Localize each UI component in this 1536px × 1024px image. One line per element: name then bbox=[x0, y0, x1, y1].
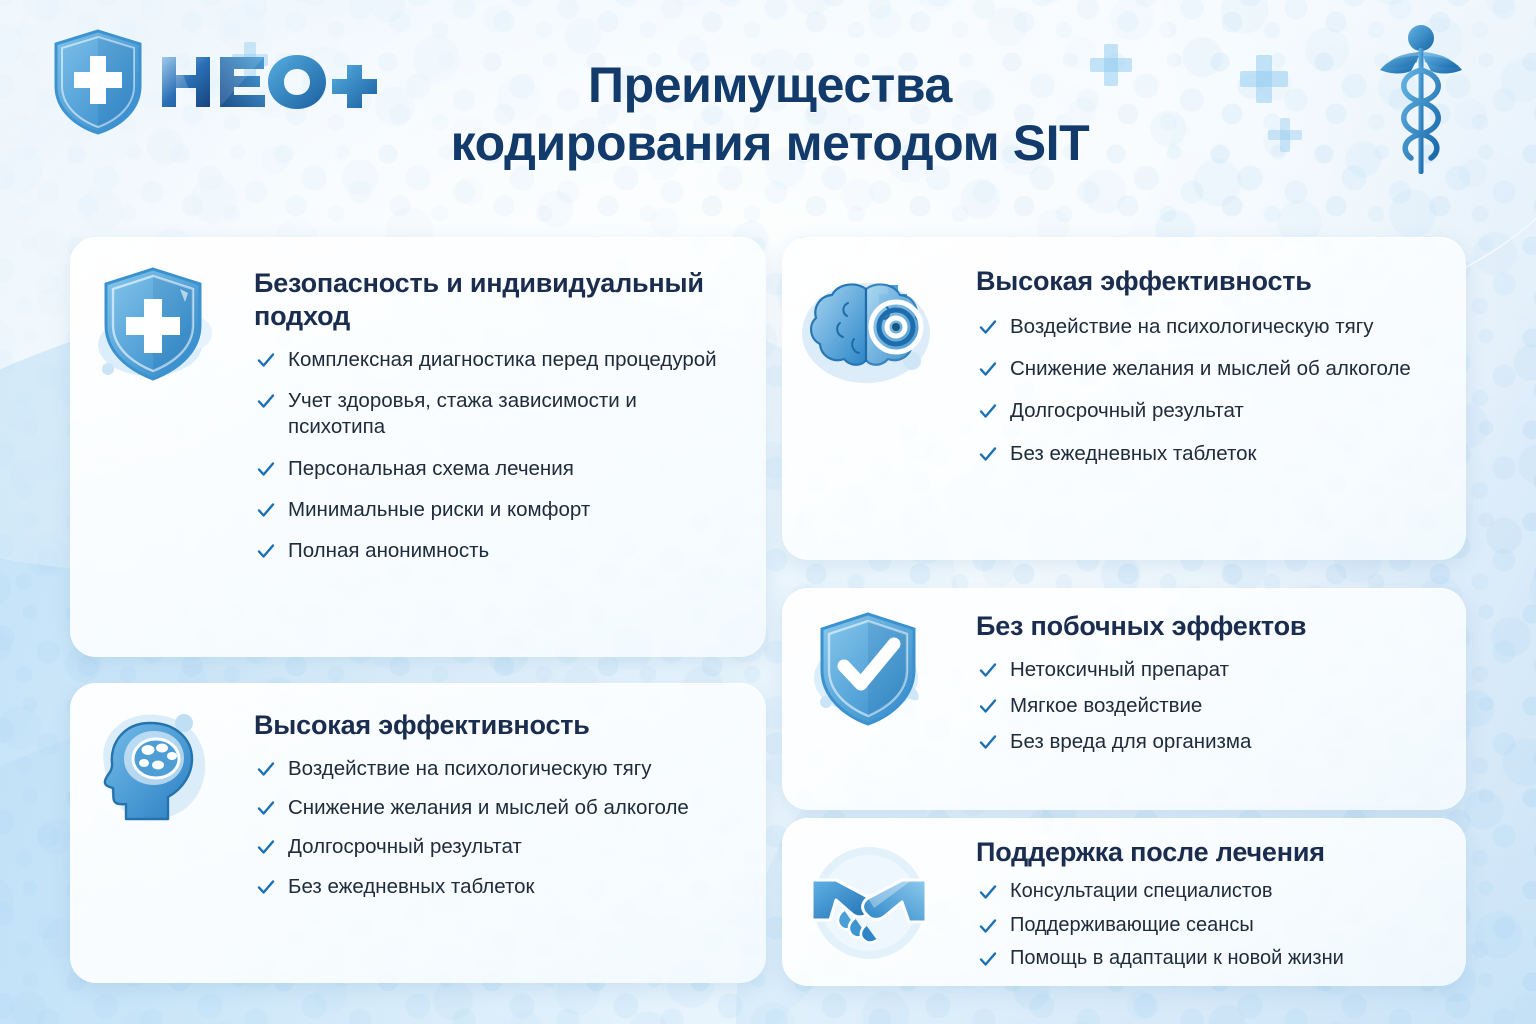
check-icon bbox=[978, 401, 998, 421]
list-item: Полная анонимность bbox=[254, 538, 736, 564]
list-item-label: Без ежедневных таблеток bbox=[288, 875, 535, 898]
list-item: Без ежедневных таблеток bbox=[254, 874, 736, 900]
shield-cross-icon bbox=[88, 259, 218, 389]
list-item: Без вреда для организма bbox=[976, 729, 1436, 755]
list-item: Без ежедневных таблеток bbox=[976, 441, 1436, 467]
list-item: Снижение желания и мыслей об алкоголе bbox=[254, 795, 736, 821]
benefit-list: Нетоксичный препарат Мягкое воздействие … bbox=[976, 657, 1436, 756]
list-item-label: Воздействие на психологическую тягу bbox=[1010, 315, 1373, 338]
list-item-label: Воздействие на психологическую тягу bbox=[288, 757, 651, 780]
shield-check-icon bbox=[804, 606, 934, 736]
poster-header: Преимущества кодирования методом SIT bbox=[0, 0, 1536, 210]
card-title: Без побочных эффектов bbox=[976, 610, 1436, 643]
list-item: Помощь в адаптации к новой жизни bbox=[976, 946, 1436, 972]
check-icon bbox=[978, 444, 998, 464]
handshake-icon bbox=[806, 840, 932, 966]
list-item: Долгосрочный результат bbox=[254, 834, 736, 860]
list-item-label: Минимальные риски и комфорт bbox=[288, 498, 590, 521]
card-high-efficiency-left: Высокая эффективность Воздействие на пси… bbox=[70, 683, 766, 983]
list-item: Комплексная диагностика перед процедурой bbox=[254, 347, 736, 373]
list-item: Мягкое воздействие bbox=[976, 693, 1436, 719]
check-icon bbox=[978, 882, 998, 902]
card-safety: Безопасность и индивидуальный подход Ком… bbox=[70, 237, 766, 657]
card-high-efficiency-right: Высокая эффективность Воздействие на пси… bbox=[782, 237, 1466, 560]
card-title: Безопасность и индивидуальный подход bbox=[254, 267, 736, 333]
caduceus-icon bbox=[1378, 22, 1464, 178]
check-icon bbox=[256, 500, 276, 520]
card-no-side-effects: Без побочных эффектов Нетоксичный препар… bbox=[782, 588, 1466, 810]
card-title: Высокая эффективность bbox=[976, 265, 1436, 298]
card-title: Высокая эффективность bbox=[254, 709, 736, 742]
list-item-label: Учет здоровья, стажа зависимости и психо… bbox=[288, 389, 637, 438]
list-item: Долгосрочный результат bbox=[976, 398, 1436, 424]
check-icon bbox=[256, 541, 276, 561]
list-item-label: Без ежедневных таблеток bbox=[1010, 442, 1257, 465]
list-item-label: Консультации специалистов bbox=[1010, 880, 1273, 902]
list-item-label: Комплексная диагностика перед процедурой bbox=[288, 348, 717, 371]
list-item: Воздействие на психологическую тягу bbox=[254, 756, 736, 782]
list-item-label: Без вреда для организма bbox=[1010, 730, 1251, 753]
benefit-list: Воздействие на психологическую тягу Сниж… bbox=[976, 314, 1436, 467]
check-icon bbox=[978, 317, 998, 337]
title-line-2: кодирования методом SIT bbox=[330, 114, 1210, 172]
list-item-label: Полная анонимность bbox=[288, 539, 489, 562]
list-item: Снижение желания и мыслей об алкоголе bbox=[976, 356, 1436, 382]
list-item-label: Поддерживающие сеансы bbox=[1010, 914, 1254, 936]
benefit-list: Воздействие на психологическую тягу Сниж… bbox=[254, 756, 736, 900]
list-item-label: Помощь в адаптации к новой жизни bbox=[1010, 947, 1344, 969]
check-icon bbox=[978, 696, 998, 716]
card-support-after-treatment: Поддержка после лечения Консультации спе… bbox=[782, 818, 1466, 986]
list-item: Персональная схема лечения bbox=[254, 456, 736, 482]
benefit-list: Консультации специалистов Поддерживающие… bbox=[976, 879, 1436, 972]
list-item: Воздействие на психологическую тягу bbox=[976, 314, 1436, 340]
card-title: Поддержка после лечения bbox=[976, 836, 1436, 869]
medical-shield-cross-icon bbox=[52, 28, 144, 136]
list-item: Минимальные риски и комфорт bbox=[254, 497, 736, 523]
check-icon bbox=[978, 660, 998, 680]
list-item-label: Долгосрочный результат bbox=[1010, 399, 1244, 422]
title-line-1: Преимущества bbox=[588, 57, 952, 113]
list-item-label: Нетоксичный препарат bbox=[1010, 658, 1229, 681]
list-item-label: Мягкое воздействие bbox=[1010, 694, 1202, 717]
check-icon bbox=[256, 837, 276, 857]
check-icon bbox=[256, 350, 276, 370]
brain-target-icon bbox=[796, 263, 942, 393]
benefit-list: Комплексная диагностика перед процедурой… bbox=[254, 347, 736, 564]
check-icon bbox=[978, 732, 998, 752]
list-item-label: Долгосрочный результат bbox=[288, 835, 522, 858]
check-icon bbox=[256, 798, 276, 818]
infographic-poster: Преимущества кодирования методом SIT bbox=[0, 0, 1536, 1024]
page-title: Преимущества кодирования методом SIT bbox=[330, 56, 1210, 172]
check-icon bbox=[256, 759, 276, 779]
list-item: Нетоксичный препарат bbox=[976, 657, 1436, 683]
check-icon bbox=[978, 359, 998, 379]
list-item-label: Персональная схема лечения bbox=[288, 457, 574, 480]
head-brain-icon bbox=[88, 705, 218, 835]
check-icon bbox=[256, 877, 276, 897]
check-icon bbox=[256, 391, 276, 411]
check-icon bbox=[978, 949, 998, 969]
list-item-label: Снижение желания и мыслей об алкоголе bbox=[1010, 357, 1411, 380]
list-item: Поддерживающие сеансы bbox=[976, 913, 1436, 939]
check-icon bbox=[256, 459, 276, 479]
list-item: Учет здоровья, стажа зависимости и психо… bbox=[254, 388, 736, 440]
list-item: Консультации специалистов bbox=[976, 879, 1436, 905]
check-icon bbox=[978, 916, 998, 936]
list-item-label: Снижение желания и мыслей об алкоголе bbox=[288, 796, 689, 819]
